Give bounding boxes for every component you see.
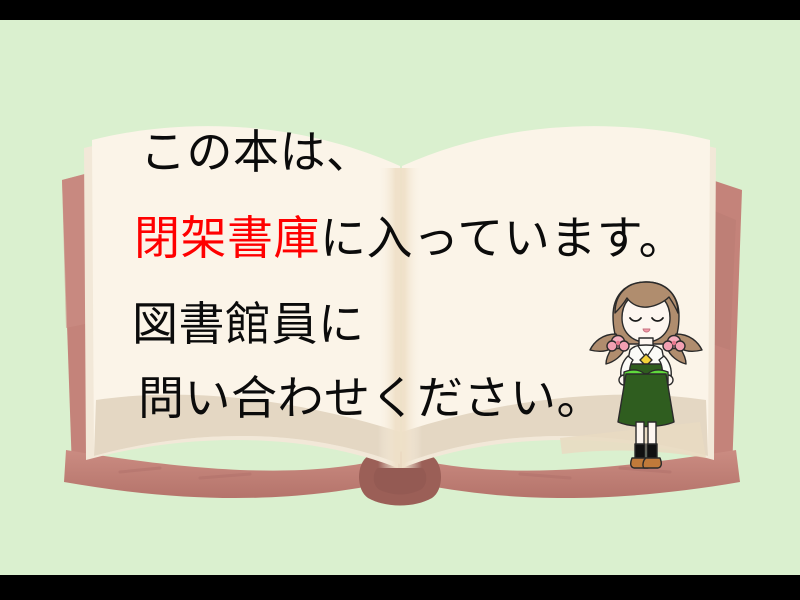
letterbox-bar-bottom (0, 575, 800, 600)
mouth (643, 329, 650, 332)
letterbox-bar-top (0, 0, 800, 20)
shoe-right (643, 458, 661, 468)
girl-reading-illustration (586, 272, 706, 472)
illustration-canvas: この本は、 閉架書庫に入っています。 図書館員に 問い合わせください。 (0, 0, 800, 600)
book-page-left (84, 126, 400, 468)
skirt (618, 374, 674, 427)
book-gutter-shadow (378, 168, 422, 468)
